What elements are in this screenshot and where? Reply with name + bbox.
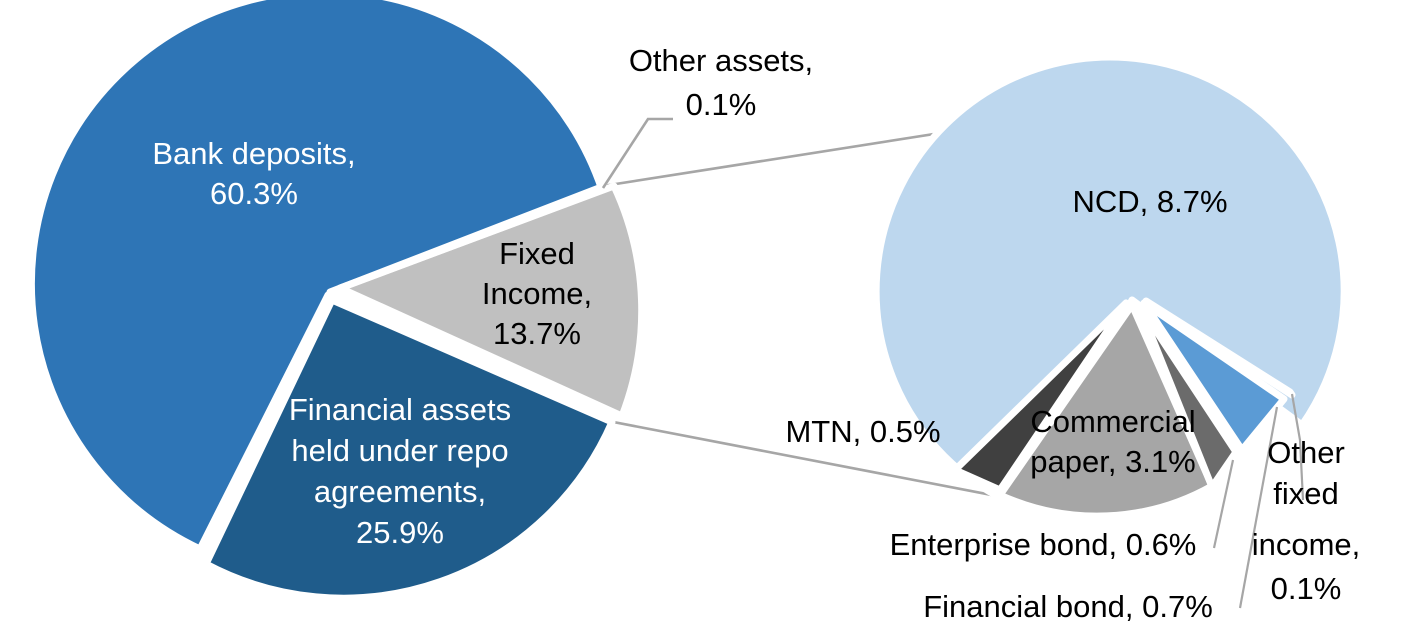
label-mtn: MTN, 0.5% bbox=[785, 414, 940, 449]
label-bank-deposits-line2: 60.3% bbox=[210, 176, 298, 211]
label-other-assets-line2: 0.1% bbox=[686, 87, 757, 122]
pie-chart-figure: Bank deposits, 60.3% Fixed Income, 13.7%… bbox=[0, 0, 1404, 644]
label-commercial-paper-line2: paper, 3.1% bbox=[1030, 444, 1195, 479]
label-enterprise-bond: Enterprise bond, 0.6% bbox=[890, 527, 1197, 562]
label-other-fixed-line4: 0.1% bbox=[1271, 571, 1342, 606]
label-ncd: NCD, 8.7% bbox=[1072, 184, 1227, 219]
label-other-fixed-line1: Other bbox=[1267, 435, 1345, 470]
label-fixed-income-line2: Income, bbox=[482, 276, 592, 311]
label-repo-line2: held under repo bbox=[291, 433, 508, 468]
label-fixed-income-line1: Fixed bbox=[499, 236, 575, 271]
label-repo-line1: Financial assets bbox=[289, 392, 511, 427]
label-commercial-paper-line1: Commercial bbox=[1030, 404, 1195, 439]
label-other-fixed-line3: income, bbox=[1252, 527, 1361, 562]
label-financial-bond: Financial bond, 0.7% bbox=[923, 589, 1213, 624]
label-bank-deposits-line1: Bank deposits, bbox=[152, 136, 355, 171]
label-repo-line3: agreements, bbox=[314, 474, 486, 509]
label-other-fixed-line2: fixed bbox=[1273, 476, 1338, 511]
chart-canvas: Bank deposits, 60.3% Fixed Income, 13.7%… bbox=[0, 0, 1404, 644]
label-repo-line4: 25.9% bbox=[356, 515, 444, 550]
label-other-assets-line1: Other assets, bbox=[629, 43, 813, 78]
label-fixed-income-line3: 13.7% bbox=[493, 316, 581, 351]
